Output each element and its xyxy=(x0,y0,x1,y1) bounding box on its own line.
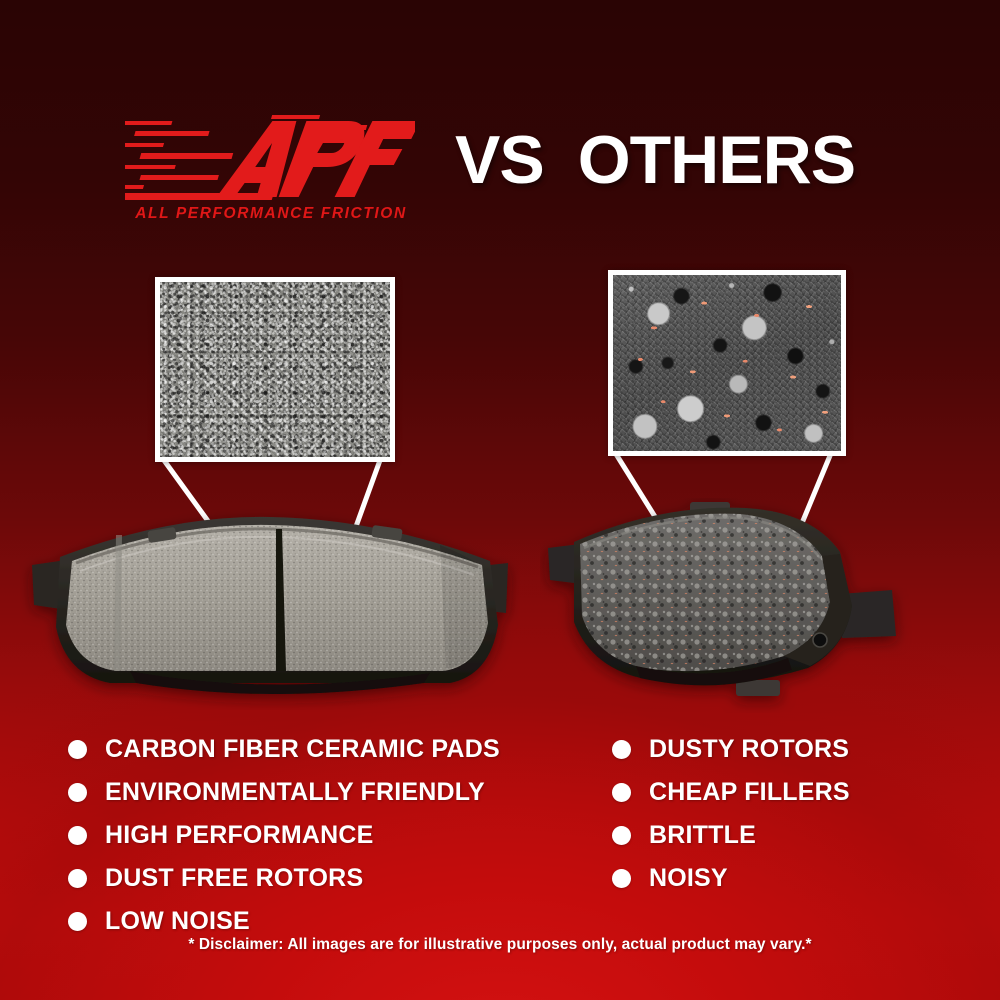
list-item: NOISY xyxy=(612,857,942,900)
apf-feature-list: CARBON FIBER CERAMIC PADS ENVIRONMENTALL… xyxy=(68,728,568,943)
bullet-icon xyxy=(612,740,631,759)
list-item: BRITTLE xyxy=(612,814,942,857)
competitor-brake-pad-image xyxy=(540,498,940,713)
bullet-icon xyxy=(68,740,87,759)
apf-brake-pad-image xyxy=(20,505,520,710)
bullet-icon xyxy=(612,783,631,802)
feature-label: CHEAP FILLERS xyxy=(649,780,850,805)
feature-label: LOW NOISE xyxy=(105,909,250,934)
filler-texture-image xyxy=(613,275,841,451)
feature-label: ENVIRONMENTALLY FRIENDLY xyxy=(105,780,485,805)
apf-logo-icon xyxy=(125,105,415,210)
others-label: OTHERS xyxy=(578,122,855,198)
apf-logo: ALL PERFORMANCE FRICTION xyxy=(125,105,415,240)
bullet-icon xyxy=(612,826,631,845)
list-item: DUST FREE ROTORS xyxy=(68,857,568,900)
advertisement-canvas: ALL PERFORMANCE FRICTION VSOTHERS xyxy=(0,0,1000,1000)
list-item: CHEAP FILLERS xyxy=(612,771,942,814)
feature-label: HIGH PERFORMANCE xyxy=(105,823,373,848)
feature-label: DUST FREE ROTORS xyxy=(105,866,363,891)
header: ALL PERFORMANCE FRICTION VSOTHERS xyxy=(0,0,1000,250)
bullet-icon xyxy=(68,826,87,845)
logo-tagline: ALL PERFORMANCE FRICTION xyxy=(133,205,409,223)
feature-label: CARBON FIBER CERAMIC PADS xyxy=(105,737,500,762)
disclaimer-text: * Disclaimer: All images are for illustr… xyxy=(0,936,1000,954)
bullet-icon xyxy=(68,912,87,931)
bullet-icon xyxy=(68,783,87,802)
feature-label: NOISY xyxy=(649,866,728,891)
bullet-icon xyxy=(612,869,631,888)
list-item: CARBON FIBER CERAMIC PADS xyxy=(68,728,568,771)
ceramic-texture-image xyxy=(160,282,390,457)
feature-label: BRITTLE xyxy=(649,823,756,848)
list-item: ENVIRONMENTALLY FRIENDLY xyxy=(68,771,568,814)
magnified-swatch-others xyxy=(608,270,846,456)
competitor-feature-list: DUSTY ROTORS CHEAP FILLERS BRITTLE NOISY xyxy=(612,728,942,900)
magnified-swatch-apf xyxy=(155,277,395,462)
vs-others-heading: VSOTHERS xyxy=(455,126,855,194)
vs-label: VS xyxy=(455,122,544,198)
list-item: DUSTY ROTORS xyxy=(612,728,942,771)
feature-label: DUSTY ROTORS xyxy=(649,737,849,762)
list-item: HIGH PERFORMANCE xyxy=(68,814,568,857)
bullet-icon xyxy=(68,869,87,888)
